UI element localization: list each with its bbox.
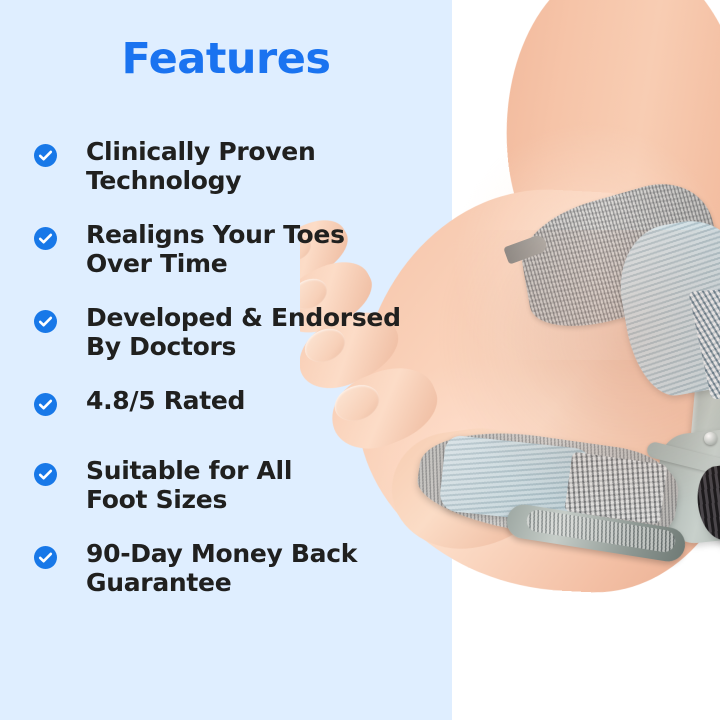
feature-label: Realigns Your Toes Over Time xyxy=(86,221,446,278)
page-title: Features xyxy=(0,34,452,84)
feature-label: Clinically Proven Technology xyxy=(86,138,446,195)
brace-hinge-rivet xyxy=(704,432,717,445)
check-circle-icon xyxy=(34,144,58,168)
feature-item: 4.8/5 Rated xyxy=(34,387,446,431)
feature-label: 4.8/5 Rated xyxy=(86,387,446,416)
feature-item: Developed & Endorsed By Doctors xyxy=(34,304,446,361)
feature-label: Suitable for All Foot Sizes xyxy=(86,457,446,514)
check-circle-icon xyxy=(34,393,58,417)
feature-item: Clinically Proven Technology xyxy=(34,138,446,195)
check-circle-icon xyxy=(34,463,58,487)
check-circle-icon xyxy=(34,546,58,570)
product-feature-card: N Features Clinically Proven Technology … xyxy=(0,0,720,720)
feature-label: 90-Day Money Back Guarantee xyxy=(86,540,446,597)
feature-item: 90-Day Money Back Guarantee xyxy=(34,540,446,597)
feature-item: Suitable for All Foot Sizes xyxy=(34,457,446,514)
feature-item: Realigns Your Toes Over Time xyxy=(34,221,446,278)
check-circle-icon xyxy=(34,310,58,334)
feature-label: Developed & Endorsed By Doctors xyxy=(86,304,446,361)
feature-list: Clinically Proven Technology Realigns Yo… xyxy=(34,138,446,597)
check-circle-icon xyxy=(34,227,58,251)
